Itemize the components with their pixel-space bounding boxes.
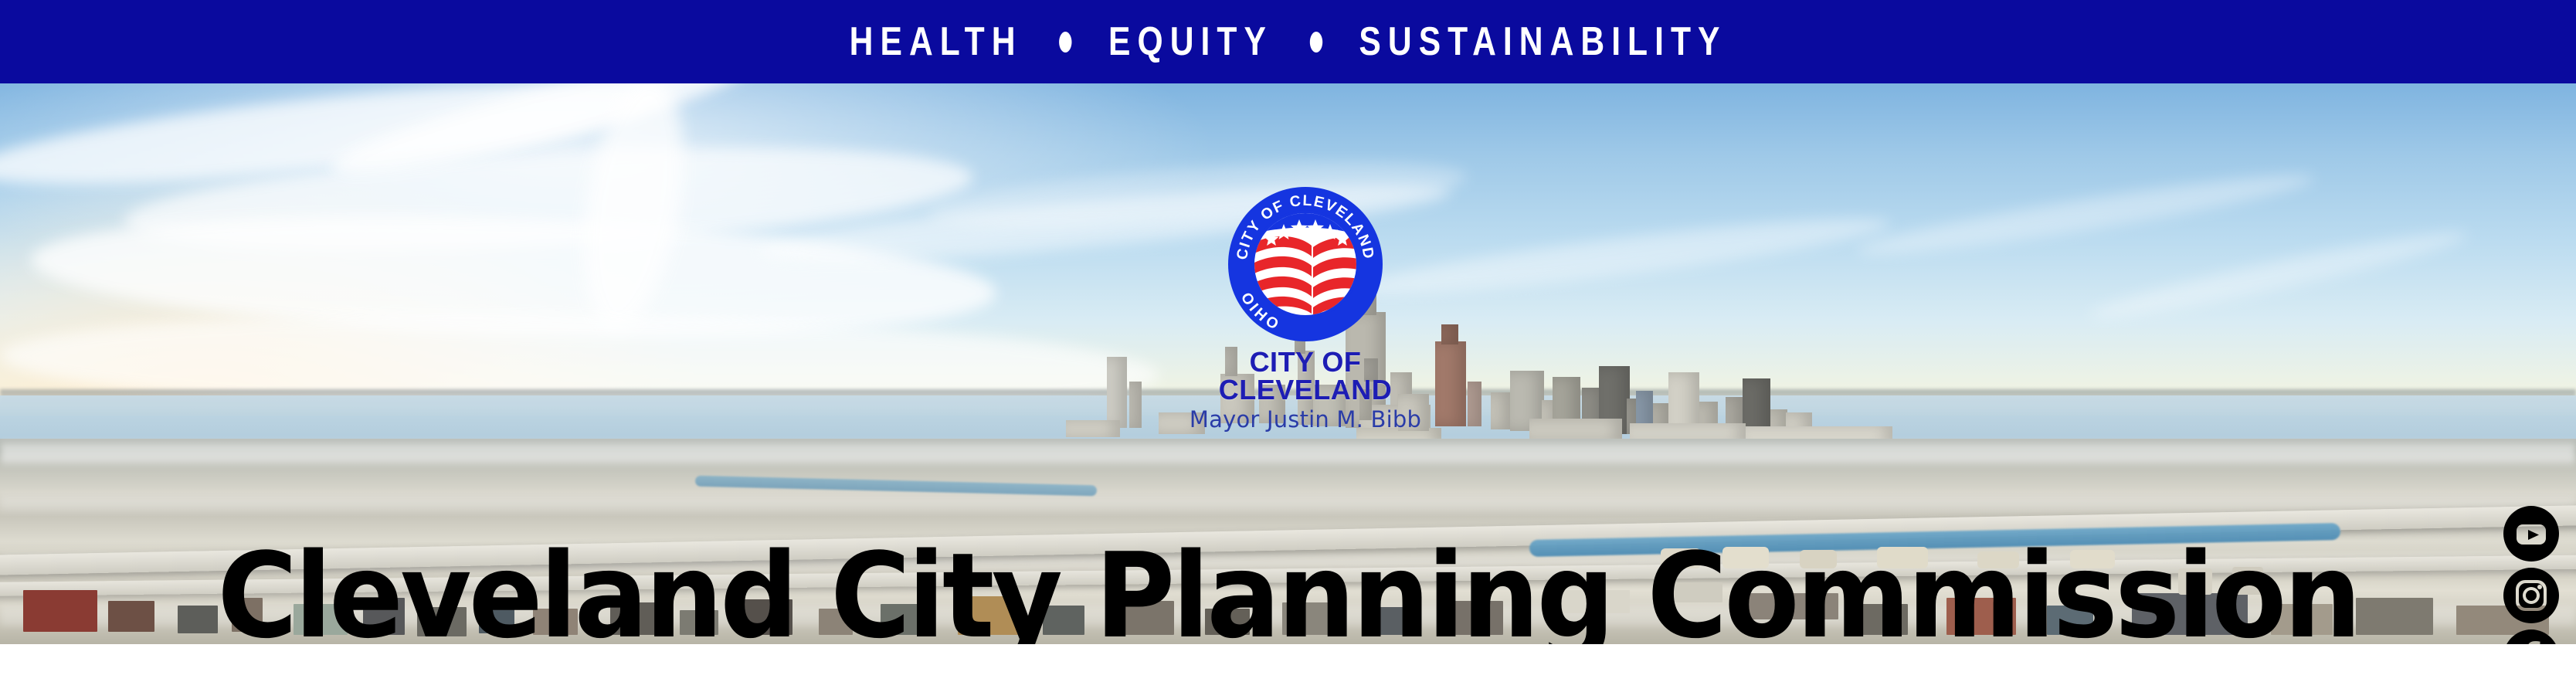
tagline-word-sustainability: SUSTAINABILITY <box>1359 19 1726 65</box>
tagline-text: HEALTH EQUITY SUSTAINABILITY <box>850 19 1727 65</box>
tagline-word-health: HEALTH <box>850 19 1023 65</box>
social-links <box>2501 505 2561 644</box>
tagline-word-equity: EQUITY <box>1108 19 1273 65</box>
city-seal-icon: CITY OF CLEVELAND OHIO <box>1227 185 1384 343</box>
page-title: Cleveland City Planning Commission <box>90 538 2486 644</box>
page-root: HEALTH EQUITY SUSTAINABILITY <box>0 0 2576 682</box>
cuyahoga-river <box>695 476 1097 497</box>
city-logo[interactable]: CITY OF CLEVELAND OHIO CITY OF CLEVELAND… <box>1162 185 1448 394</box>
bullet-dot-icon <box>1059 32 1071 53</box>
instagram-icon[interactable] <box>2503 567 2560 624</box>
youtube-icon[interactable] <box>2503 505 2560 562</box>
logo-title: CITY OF CLEVELAND <box>1162 348 1448 404</box>
hero-photo: CITY OF CLEVELAND OHIO CITY OF CLEVELAND… <box>0 83 2576 644</box>
bullet-dot-icon <box>1309 32 1322 53</box>
facebook-icon[interactable] <box>2503 629 2560 644</box>
tagline-bar: HEALTH EQUITY SUSTAINABILITY <box>0 0 2576 83</box>
logo-subtitle: Mayor Justin M. Bibb <box>1162 409 1448 431</box>
